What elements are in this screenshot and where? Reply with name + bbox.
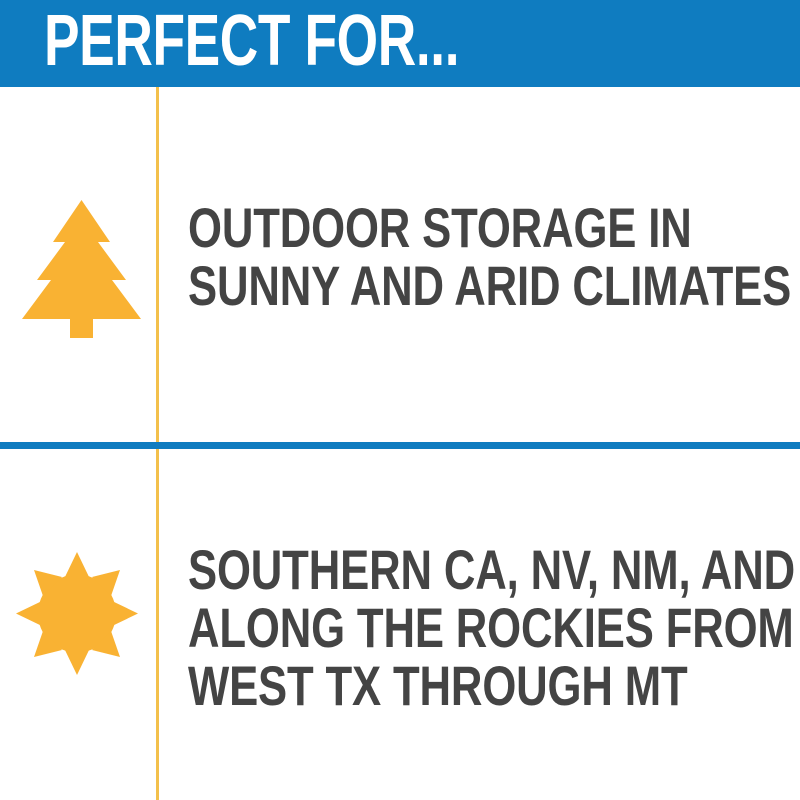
feature-row-regions: SOUTHERN CA, NV, NM, AND ALONG THE ROCKI… (0, 449, 800, 800)
sun-icon (16, 552, 138, 675)
feature-text-regions: SOUTHERN CA, NV, NM, AND ALONG THE ROCKI… (188, 541, 795, 715)
perfect-for-infographic: PERFECT FOR... OUTDOOR STORAGE IN SUNNY … (0, 0, 800, 800)
text-cell-regions: SOUTHERN CA, NV, NM, AND ALONG THE ROCKI… (159, 449, 800, 800)
header-band: PERFECT FOR... (0, 0, 800, 87)
text-cell-outdoor-storage: OUTDOOR STORAGE IN SUNNY AND ARID CLIMAT… (159, 87, 800, 442)
page-title: PERFECT FOR... (44, 4, 459, 78)
feature-row-outdoor-storage: OUTDOOR STORAGE IN SUNNY AND ARID CLIMAT… (0, 87, 800, 442)
icon-cell-tree (0, 87, 156, 442)
pine-tree-icon (22, 200, 141, 338)
horizontal-divider (0, 442, 800, 449)
icon-cell-sun (0, 449, 156, 800)
feature-text-outdoor-storage: OUTDOOR STORAGE IN SUNNY AND ARID CLIMAT… (188, 199, 791, 315)
